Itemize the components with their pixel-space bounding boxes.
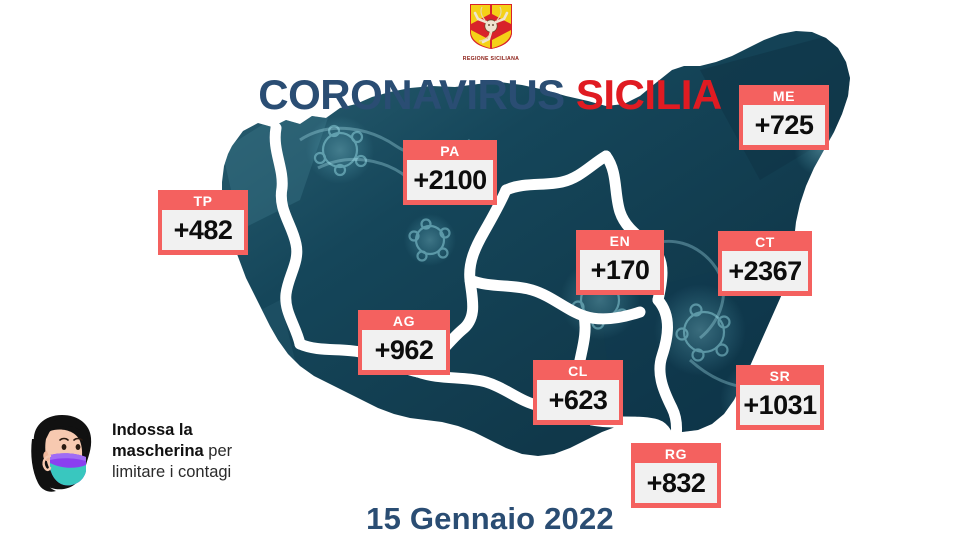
woman-wearing-mask-icon	[18, 409, 106, 497]
province-value-me: +725	[743, 105, 825, 145]
province-code-me: ME	[743, 88, 825, 105]
province-value-tp: +482	[162, 210, 244, 250]
province-label-me[interactable]: ME +725	[739, 85, 829, 150]
page-title: CORONAVIRUS SICILIA	[0, 74, 980, 116]
province-value-sr: +1031	[740, 385, 820, 425]
title-coronavirus: CORONAVIRUS	[258, 71, 564, 118]
province-label-sr[interactable]: SR +1031	[736, 365, 824, 430]
province-code-pa: PA	[407, 143, 493, 160]
mask-notice-line3: limitare i contagi	[112, 463, 231, 481]
province-code-tp: TP	[162, 193, 244, 210]
province-label-en[interactable]: EN +170	[576, 230, 664, 295]
title-sicilia: SICILIA	[576, 71, 722, 118]
province-value-ag: +962	[362, 330, 446, 370]
province-value-cl: +623	[537, 380, 619, 420]
province-label-ag[interactable]: AG +962	[358, 310, 450, 375]
mask-notice-text: Indossa la mascherina per limitare i con…	[112, 420, 280, 483]
province-code-rg: RG	[635, 446, 717, 463]
mask-notice-line2-bold: mascherina	[112, 442, 204, 460]
province-code-ct: CT	[722, 234, 808, 251]
province-value-en: +170	[580, 250, 660, 290]
mask-notice-line2-rest: per	[204, 442, 232, 460]
province-label-tp[interactable]: TP +482	[158, 190, 248, 255]
province-label-ct[interactable]: CT +2367	[718, 231, 812, 296]
emblem-caption: REGIONE SICILIANA	[462, 56, 520, 62]
province-label-rg[interactable]: RG +832	[631, 443, 721, 508]
province-value-rg: +832	[635, 463, 717, 503]
province-code-ag: AG	[362, 313, 446, 330]
province-label-cl[interactable]: CL +623	[533, 360, 623, 425]
regione-siciliana-emblem: REGIONE SICILIANA	[462, 2, 520, 64]
mask-notice-line1: Indossa la	[112, 421, 193, 439]
province-value-pa: +2100	[407, 160, 493, 200]
province-code-en: EN	[580, 233, 660, 250]
trinacria-shield-icon	[468, 2, 514, 50]
coronavirus-sicilia-infographic: REGIONE SICILIANA CORONAVIRUS SICILIA TP…	[0, 0, 980, 551]
province-label-pa[interactable]: PA +2100	[403, 140, 497, 205]
province-code-cl: CL	[537, 363, 619, 380]
province-value-ct: +2367	[722, 251, 808, 291]
mask-notice: Indossa la mascherina per limitare i con…	[18, 409, 280, 497]
province-code-sr: SR	[740, 368, 820, 385]
date-label: 15 Gennaio 2022	[0, 501, 980, 537]
